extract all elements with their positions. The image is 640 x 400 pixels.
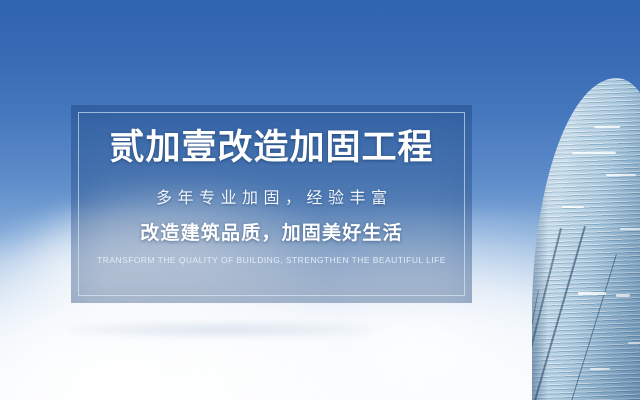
headline-panel: 贰加壹改造加固工程 多年专业加固，经验丰富 改造建筑品质，加固美好生活 TRAN… xyxy=(71,105,472,303)
tagline: 改造建筑品质，加固美好生活 xyxy=(140,224,403,243)
hero-banner: 贰加壹改造加固工程 多年专业加固，经验丰富 改造建筑品质，加固美好生活 TRAN… xyxy=(0,0,640,400)
page-title: 贰加壹改造加固工程 xyxy=(109,131,433,166)
english-tagline: TRANSFORM THE QUALITY OF BUILDING, STREN… xyxy=(97,256,446,265)
panel-content: 贰加壹改造加固工程 多年专业加固，经验丰富 改造建筑品质，加固美好生活 TRAN… xyxy=(71,105,472,303)
skyscraper xyxy=(480,0,640,400)
subtitle: 多年专业加固，经验丰富 xyxy=(150,190,392,206)
skyscraper-body xyxy=(532,78,640,400)
skyscraper-glass-sheen xyxy=(532,78,640,400)
